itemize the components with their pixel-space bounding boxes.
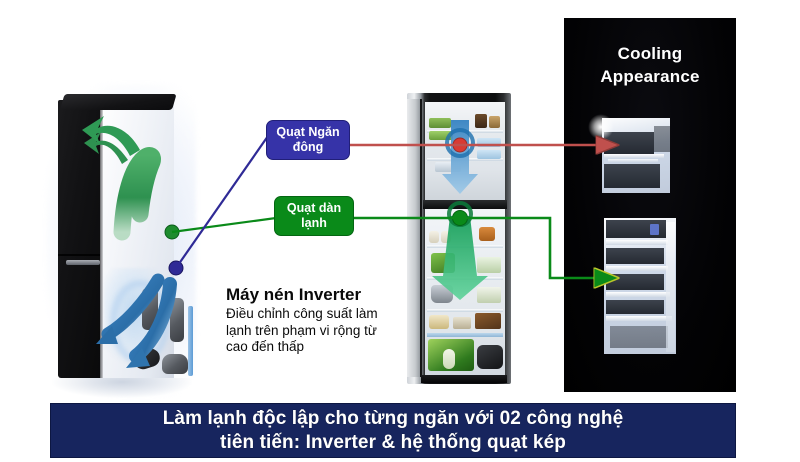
blue-airflow-arrows-left — [96, 280, 170, 368]
green-connector-line — [354, 218, 617, 278]
banner-line-2: tiên tiến: Inverter & hệ thống quạt kép — [220, 431, 566, 455]
inverter-body-line1: Điều chỉnh công suất làm — [226, 306, 422, 323]
callout-cooling-fan[interactable]: Quạt dàn lạnh — [274, 196, 354, 236]
callout-freezer-fan[interactable]: Quạt Ngăn đông — [266, 120, 350, 160]
green-airflow-arrow-left — [82, 116, 153, 232]
infographic-canvas: Cooling Appearance — [0, 0, 800, 462]
callout-cooling-fan-line2: lạnh — [275, 216, 353, 231]
freezer-airflow-arrow — [442, 120, 478, 194]
inverter-body-line3: cao đến thấp — [226, 339, 422, 356]
callout-freezer-fan-line2: đông — [267, 140, 349, 155]
bottom-banner: Làm lạnh độc lập cho từng ngăn với 02 cô… — [50, 403, 736, 458]
green-leader-line — [172, 218, 276, 232]
inverter-title: Máy nén Inverter — [226, 284, 422, 305]
callout-cooling-fan-line1: Quạt dàn — [275, 201, 353, 216]
callout-freezer-fan-line1: Quạt Ngăn — [267, 125, 349, 140]
inverter-body-line2: lạnh trên phạm vi rộng từ — [226, 323, 422, 340]
blue-leader-line — [176, 136, 268, 268]
connector-overlay — [0, 0, 800, 462]
inverter-description-block: Máy nén Inverter Điều chỉnh công suất là… — [226, 284, 422, 356]
banner-line-1: Làm lạnh độc lập cho từng ngăn với 02 cô… — [163, 407, 624, 431]
